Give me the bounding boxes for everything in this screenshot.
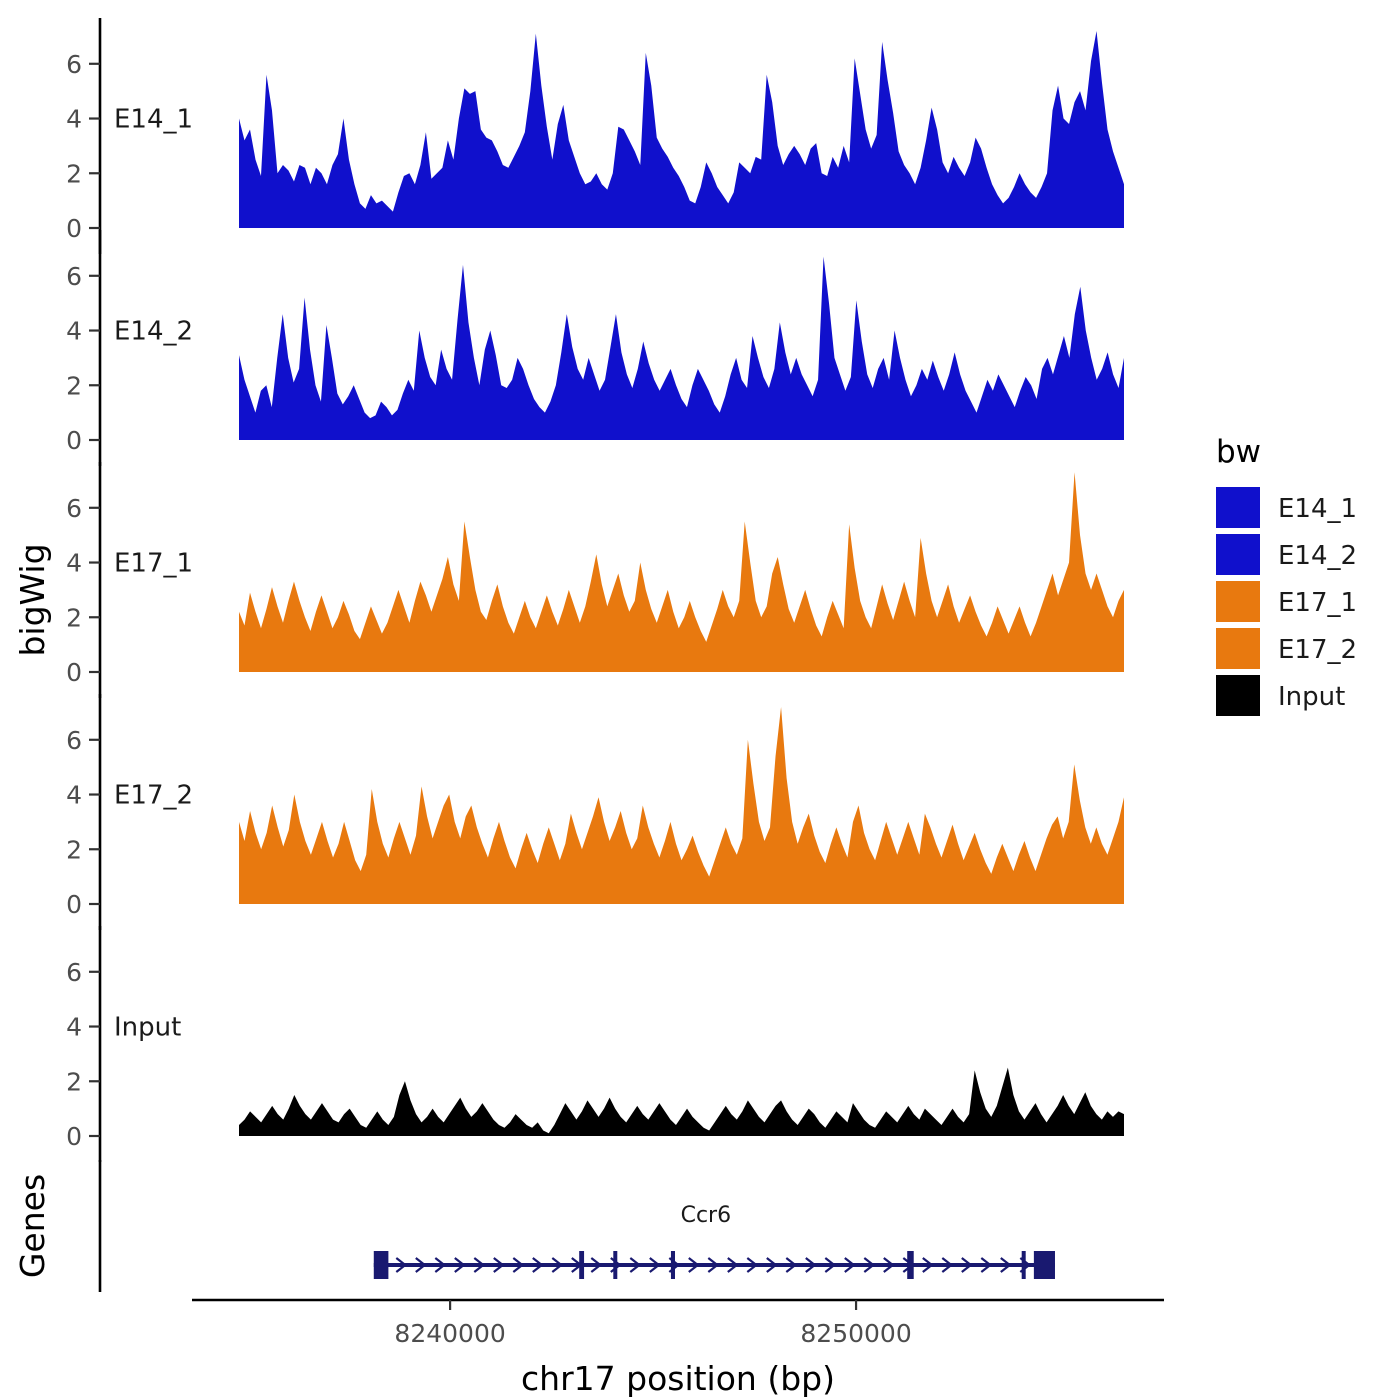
y-axis-titles: bigWigGenes xyxy=(13,543,52,1278)
panel-label-E14_1: E14_1 xyxy=(114,105,193,135)
panel-label-E17_1: E17_1 xyxy=(114,549,193,579)
gene-label-Ccr6: Ccr6 xyxy=(681,1203,732,1228)
signal-area-E14_2 xyxy=(239,257,1124,440)
signal-panel-E17_1: 0246E17_1 xyxy=(66,462,1124,698)
figure-canvas: 0246E14_10246E14_20246E17_10246E17_20246… xyxy=(0,0,1400,1400)
x-tick-label-8240000: 8240000 xyxy=(394,1319,505,1348)
y-tick-label-E14_2-4: 4 xyxy=(66,317,82,346)
signal-area-E17_1 xyxy=(239,472,1124,672)
legend-swatch-E14_1[interactable] xyxy=(1216,487,1260,528)
legend-label-E17_1: E17_1 xyxy=(1278,588,1357,618)
gene-exon-Ccr6-1 xyxy=(374,1251,389,1279)
panel-label-Input: Input xyxy=(114,1013,181,1043)
y-tick-label-Input-2: 2 xyxy=(66,1067,82,1096)
signal-panel-Input: 0246Input xyxy=(66,926,1124,1162)
x-axis-title: chr17 position (bp) xyxy=(521,1359,835,1398)
y-tick-label-E14_2-6: 6 xyxy=(66,262,82,291)
signal-area-Input xyxy=(239,1068,1124,1136)
panel-label-E14_2: E14_2 xyxy=(114,317,193,347)
panel-label-E17_2: E17_2 xyxy=(114,781,193,811)
y-tick-label-E17_2-2: 2 xyxy=(66,835,82,864)
signal-area-E14_1 xyxy=(239,31,1124,228)
legend-title: bw xyxy=(1216,434,1261,470)
legend-label-Input: Input xyxy=(1278,682,1345,712)
y-tick-label-E17_2-6: 6 xyxy=(66,726,82,755)
gene-track: Ccr6 xyxy=(100,1160,1055,1292)
y-axis-title-bigwig: bigWig xyxy=(13,543,52,656)
y-tick-label-Input-4: 4 xyxy=(66,1013,82,1042)
legend-label-E14_1: E14_1 xyxy=(1278,494,1357,524)
gene-exon-Ccr6-6 xyxy=(1022,1251,1026,1279)
signal-panel-E14_2: 0246E14_2 xyxy=(66,230,1124,466)
x-axis: 82400008250000chr17 position (bp) xyxy=(192,1300,1164,1398)
legend-label-E17_2: E17_2 xyxy=(1278,635,1357,665)
gene-exon-Ccr6-3 xyxy=(613,1251,617,1279)
y-tick-label-E17_2-0: 0 xyxy=(66,890,82,919)
gene-exon-Ccr6-2 xyxy=(579,1251,584,1279)
y-tick-label-E14_2-2: 2 xyxy=(66,371,82,400)
y-tick-label-E14_1-0: 0 xyxy=(66,214,82,243)
legend-swatch-E17_1[interactable] xyxy=(1216,581,1260,622)
legend-swatch-Input[interactable] xyxy=(1216,675,1260,716)
signal-panel-E14_1: 0246E14_1 xyxy=(66,18,1124,254)
x-tick-label-8250000: 8250000 xyxy=(800,1319,911,1348)
y-tick-label-E14_1-2: 2 xyxy=(66,159,82,188)
y-tick-label-E14_1-4: 4 xyxy=(66,105,82,134)
gene-exon-Ccr6-4 xyxy=(671,1251,675,1279)
y-tick-label-Input-6: 6 xyxy=(66,958,82,987)
y-tick-label-E17_1-6: 6 xyxy=(66,494,82,523)
legend-swatch-E17_2[interactable] xyxy=(1216,628,1260,669)
y-tick-label-E14_1-6: 6 xyxy=(66,50,82,79)
y-tick-label-E17_1-4: 4 xyxy=(66,549,82,578)
genome-browser-figure: 0246E14_10246E14_20246E17_10246E17_20246… xyxy=(0,0,1400,1400)
y-tick-label-E17_1-0: 0 xyxy=(66,658,82,687)
signal-area-E17_2 xyxy=(239,707,1124,904)
y-tick-label-Input-0: 0 xyxy=(66,1122,82,1151)
legend-swatch-E14_2[interactable] xyxy=(1216,534,1260,575)
y-tick-label-E17_2-4: 4 xyxy=(66,781,82,810)
y-tick-label-E17_1-2: 2 xyxy=(66,603,82,632)
gene-exon-Ccr6-5 xyxy=(907,1251,913,1279)
y-axis-title-genes: Genes xyxy=(13,1174,52,1278)
gene-exon-Ccr6-7 xyxy=(1034,1251,1055,1279)
y-tick-label-E14_2-0: 0 xyxy=(66,426,82,455)
legend-label-E14_2: E14_2 xyxy=(1278,541,1357,571)
signal-panel-E17_2: 0246E17_2 xyxy=(66,694,1124,930)
legend: bwE14_1E14_2E17_1E17_2Input xyxy=(1216,434,1357,716)
